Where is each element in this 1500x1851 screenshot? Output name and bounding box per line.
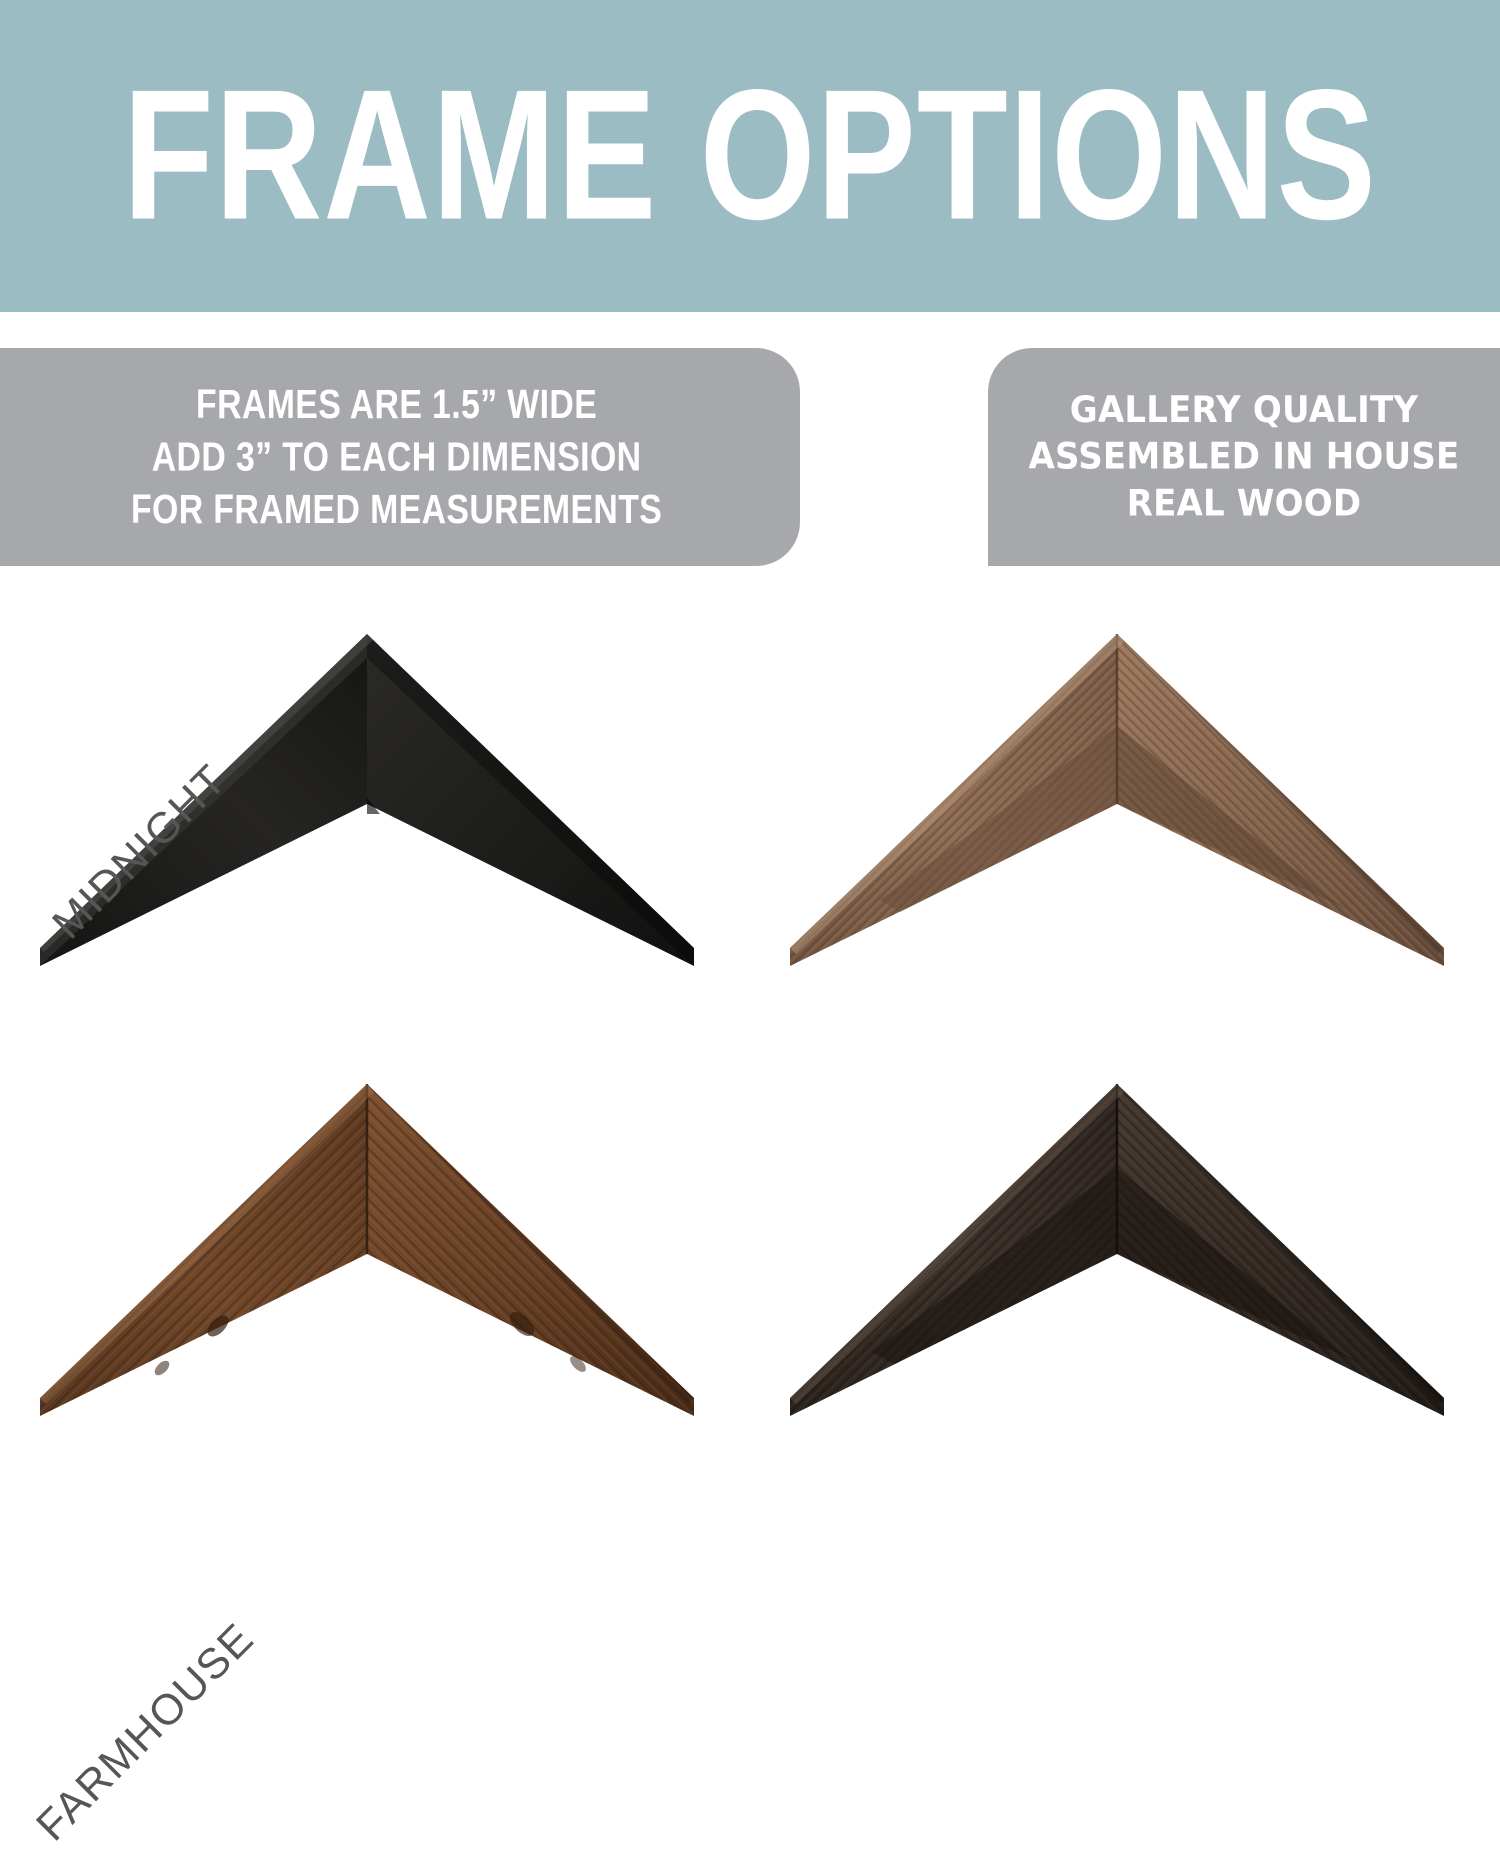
- quality-note-text: GALLERY QUALITY ASSEMBLED IN HOUSE REAL …: [1029, 387, 1460, 528]
- callout-row: FRAMES ARE 1.5” WIDE ADD 3” TO EACH DIME…: [0, 348, 1500, 566]
- frame-swatch-farmhouse[interactable]: FARMHOUSE: [0, 1050, 750, 1450]
- frame-swatch-grid: MIDNIGHT: [0, 600, 1500, 1400]
- midnight-frame-icon: [22, 618, 712, 984]
- frame-label-farmhouse: FARMHOUSE: [27, 1614, 264, 1851]
- driftwood-frame-icon: [772, 618, 1462, 984]
- frame-corner-art-farmhouse: [22, 1068, 712, 1434]
- frame-corner-art-driftwood: [772, 618, 1462, 984]
- frame-swatch-midnight[interactable]: MIDNIGHT: [0, 600, 750, 1000]
- frame-swatch-charcoal[interactable]: CHARCOAL: [750, 1050, 1500, 1450]
- measurement-note-box: FRAMES ARE 1.5” WIDE ADD 3” TO EACH DIME…: [0, 348, 800, 566]
- measurement-note-text: FRAMES ARE 1.5” WIDE ADD 3” TO EACH DIME…: [131, 378, 662, 535]
- frame-corner-art-midnight: [22, 618, 712, 984]
- farmhouse-frame-icon: [22, 1068, 712, 1434]
- page-title: FRAME OPTIONS: [123, 62, 1377, 247]
- frame-corner-art-charcoal: [772, 1068, 1462, 1434]
- frame-swatch-driftwood[interactable]: DRIFTWOOD: [750, 600, 1500, 1000]
- charcoal-frame-icon: [772, 1068, 1462, 1434]
- header-band: FRAME OPTIONS: [0, 0, 1500, 312]
- quality-note-box: GALLERY QUALITY ASSEMBLED IN HOUSE REAL …: [988, 348, 1500, 566]
